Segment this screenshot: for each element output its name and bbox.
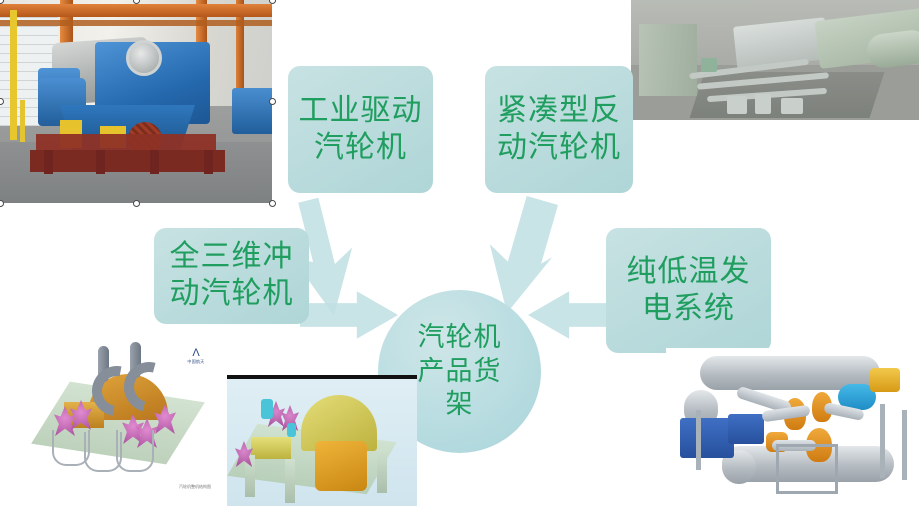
cad2-column-2: [285, 459, 295, 503]
company-logo: Λ 中国航天: [179, 348, 213, 368]
crane-rail: [0, 20, 272, 26]
background-turbine: [232, 88, 272, 134]
resize-handle-s[interactable]: [133, 200, 140, 207]
logo-subtitle: 中国航天: [179, 359, 213, 365]
turbine-base-frame: [30, 150, 225, 172]
node-label: 纯低温发 电系统: [627, 254, 751, 327]
base-leg-4: [204, 150, 213, 174]
resize-handle-sw[interactable]: [0, 200, 4, 207]
cad3-leg-3: [902, 410, 907, 480]
cad3-blue-module-2: [728, 414, 764, 444]
cad2-column-3: [377, 449, 387, 493]
resize-handle-ne[interactable]: [269, 0, 276, 4]
plant-building: [639, 24, 697, 96]
cad2-rotor-drum: [315, 441, 367, 491]
cad3-yellow-box: [870, 368, 900, 392]
cad-skid-package[interactable]: [666, 348, 919, 506]
node-industrial-drive-turbine[interactable]: 工业驱动 汽轮机: [288, 66, 433, 193]
node-center-label: 汽轮机 产品货 架: [418, 321, 502, 422]
yellow-ladder: [10, 10, 17, 140]
plant-3d-render[interactable]: [631, 0, 919, 120]
resize-handle-se[interactable]: [269, 200, 276, 207]
cad3-leg-2: [880, 404, 885, 478]
cad2-valve-2: [287, 423, 296, 437]
cad2-valve-1: [261, 399, 273, 419]
node-compact-reaction-turbine[interactable]: 紧凑型反 动汽轮机: [485, 66, 633, 193]
base-leg-1: [44, 150, 53, 174]
cad2-front-block: [251, 437, 291, 459]
cad1-return-tube-3: [116, 430, 154, 472]
plant-aux-1: [727, 96, 747, 114]
cad-turbine-detail[interactable]: [227, 375, 417, 506]
resize-handle-e[interactable]: [269, 98, 276, 105]
plant-aux-4: [701, 58, 717, 72]
cad3-support-frame: [776, 444, 838, 494]
plant-aux-2: [755, 94, 771, 114]
cad-turbine-assembly[interactable]: Λ 中国航天 汽轮机整机结构图: [18, 340, 223, 498]
turbine-flange: [126, 40, 162, 76]
factory-turbine-photo[interactable]: [0, 0, 272, 203]
plant-aux-3: [781, 98, 803, 114]
node-full-3d-impulse-turbine[interactable]: 全三维冲 动汽轮机: [154, 228, 309, 324]
cad3-leg-1: [696, 410, 701, 470]
arrow-3d-impulse-to-center: [300, 288, 398, 342]
base-leg-2: [96, 150, 105, 174]
node-label: 全三维冲 动汽轮机: [170, 239, 294, 312]
cad1-caption: 汽轮机整机结构图: [179, 484, 211, 490]
base-leg-3: [150, 150, 159, 174]
crane-girder: [0, 4, 272, 17]
node-label: 紧凑型反 动汽轮机: [497, 93, 621, 166]
cad3-blue-module-1: [680, 418, 734, 458]
slide-canvas: 工业驱动 汽轮机 紧凑型反 动汽轮机 全三维冲 动汽轮机 纯低温发 电系统 汽轮…: [0, 0, 919, 506]
node-low-temperature-power-system[interactable]: 纯低温发 电系统: [606, 228, 771, 353]
node-label: 工业驱动 汽轮机: [299, 93, 423, 166]
logo-mark: Λ: [179, 348, 213, 359]
